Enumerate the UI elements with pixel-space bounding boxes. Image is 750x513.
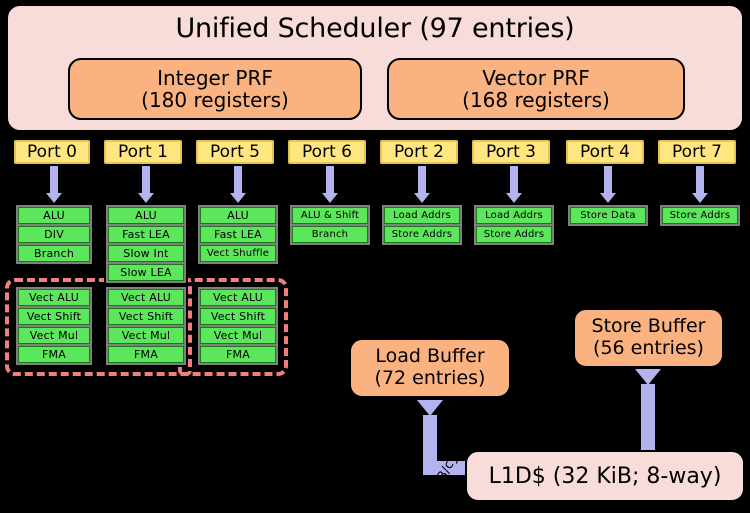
uop-arrow-shaft [604, 166, 612, 193]
uop-arrow-shaft [234, 166, 242, 193]
execution-unit: ALU & Shift [292, 207, 368, 224]
uop-arrow-3 [322, 166, 338, 203]
execution-unit: Store Addrs [662, 207, 738, 224]
execution-unit: Fast LEA [200, 226, 276, 243]
execution-unit-stack-5: Load AddrsStore Addrs [472, 203, 556, 247]
uop-arrow-1 [138, 166, 154, 203]
uop-arrow-head [692, 193, 708, 203]
vector-unit-stack-2: Vect ALUVect ShiftVect MulFMA [196, 285, 280, 367]
uop-arrow-2 [230, 166, 246, 203]
execution-unit: Vect Shuffle [200, 245, 276, 262]
vector-unit: Vect Shift [18, 308, 90, 325]
execution-unit-stack-7: Store Addrs [658, 203, 742, 228]
uop-arrow-head [230, 193, 246, 203]
store-bus-arrowhead [635, 369, 661, 385]
store-buffer-name: Store Buffer [592, 316, 706, 338]
execution-unit: Load Addrs [476, 207, 552, 224]
vector-unit: Vect Mul [108, 327, 184, 344]
vector-prf-detail: (168 registers) [462, 89, 610, 111]
execution-unit: Slow LEA [108, 264, 184, 281]
port-label-port-2[interactable]: Port 2 [380, 140, 458, 164]
vector-unit: Vect ALU [108, 289, 184, 306]
execution-unit-stack-0: ALUDIVBranch [14, 203, 94, 266]
load-buffer-name: Load Buffer [375, 346, 484, 368]
store-buffer-detail: (56 entries) [593, 338, 704, 360]
integer-prf-name: Integer PRF [157, 67, 273, 89]
execution-unit: Branch [292, 226, 368, 243]
integer-prf-block: Integer PRF (180 registers) [68, 58, 362, 120]
vector-unit: Vect Mul [200, 327, 276, 344]
port-label-port-0[interactable]: Port 0 [14, 140, 90, 164]
unified-scheduler-block: Unified Scheduler (97 entries) Integer P… [6, 4, 744, 132]
vector-unit: Vect ALU [200, 289, 276, 306]
uop-arrow-head [600, 193, 616, 203]
uop-arrow-head [506, 193, 522, 203]
execution-unit: Store Addrs [476, 226, 552, 243]
port-label-port-4[interactable]: Port 4 [566, 140, 644, 164]
vector-unit: Vect Shift [108, 308, 184, 325]
uop-arrow-6 [600, 166, 616, 203]
vector-unit-stack-0: Vect ALUVect ShiftVect MulFMA [14, 285, 94, 367]
vector-unit: Vect Shift [200, 308, 276, 325]
vector-unit-stack-1: Vect ALUVect ShiftVect MulFMA [104, 285, 188, 367]
port-label-port-7[interactable]: Port 7 [658, 140, 736, 164]
l1-data-cache-block: L1D$ (32 KiB; 8-way) [465, 450, 745, 502]
uop-arrow-7 [692, 166, 708, 203]
vector-unit: FMA [18, 346, 90, 363]
uop-arrow-head [46, 193, 62, 203]
execution-unit-stack-6: Store Data [566, 203, 650, 228]
microarchitecture-diagram: Unified Scheduler (97 entries) Integer P… [0, 0, 750, 513]
uop-arrow-4 [414, 166, 430, 203]
uop-arrow-head [414, 193, 430, 203]
vector-prf-block: Vector PRF (168 registers) [387, 58, 685, 120]
load-bus-arrowhead [417, 400, 443, 416]
uop-arrow-shaft [510, 166, 518, 193]
uop-arrow-head [322, 193, 338, 203]
vector-unit: Vect ALU [18, 289, 90, 306]
execution-unit: Load Addrs [384, 207, 460, 224]
load-buffer-block: Load Buffer (72 entries) [349, 338, 511, 398]
integer-prf-detail: (180 registers) [141, 89, 289, 111]
vector-prf-name: Vector PRF [482, 67, 590, 89]
execution-unit: ALU [200, 207, 276, 224]
vector-unit: FMA [108, 346, 184, 363]
store-bus-label: 32B/cycle [621, 377, 636, 440]
execution-unit: Store Data [570, 207, 646, 224]
execution-unit-stack-4: Load AddrsStore Addrs [380, 203, 464, 247]
uop-arrow-head [138, 193, 154, 203]
execution-unit: Branch [18, 245, 90, 262]
uop-arrow-shaft [326, 166, 334, 193]
vector-unit: Vect Mul [18, 327, 90, 344]
scheduler-title: Unified Scheduler (97 entries) [8, 13, 742, 44]
uop-arrow-shaft [142, 166, 150, 193]
execution-unit-stack-2: ALUFast LEAVect Shuffle [196, 203, 280, 266]
vector-unit: FMA [200, 346, 276, 363]
execution-unit: Store Addrs [384, 226, 460, 243]
execution-unit: ALU [108, 207, 184, 224]
load-buffer-detail: (72 entries) [375, 368, 486, 390]
store-buffer-block: Store Buffer (56 entries) [573, 308, 724, 368]
uop-arrow-5 [506, 166, 522, 203]
uop-arrow-shaft [50, 166, 58, 193]
store-bus-vertical [641, 384, 655, 456]
execution-unit: Slow Int [108, 245, 184, 262]
execution-unit-stack-3: ALU & ShiftBranch [288, 203, 372, 247]
uop-arrow-0 [46, 166, 62, 203]
execution-unit: ALU [18, 207, 90, 224]
port-label-port-3[interactable]: Port 3 [472, 140, 550, 164]
port-label-port-1[interactable]: Port 1 [104, 140, 182, 164]
execution-unit-stack-1: ALUFast LEASlow IntSlow LEA [104, 203, 188, 285]
uop-arrow-shaft [696, 166, 704, 193]
uop-arrow-shaft [418, 166, 426, 193]
port-label-port-5[interactable]: Port 5 [196, 140, 274, 164]
execution-unit: Fast LEA [108, 226, 184, 243]
execution-unit: DIV [18, 226, 90, 243]
port-label-port-6[interactable]: Port 6 [288, 140, 366, 164]
